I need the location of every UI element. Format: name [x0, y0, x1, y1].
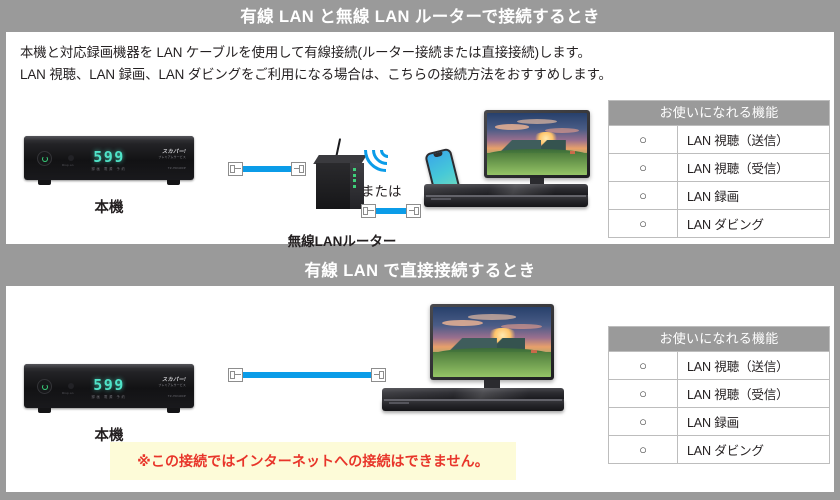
- set-top-box-2: Disp.on 599 録画 電源 予約 スカパー! プレミアムサービス TZ-…: [24, 364, 194, 418]
- feature-table-2-header: お使いになれる機能: [609, 327, 829, 351]
- table-row: ○ LAN 視聴（受信）: [609, 153, 829, 181]
- recorder-top: [424, 184, 588, 195]
- feature-table-1-header: お使いになれる機能: [609, 101, 829, 125]
- rj45-plug-left: [228, 368, 243, 382]
- warning-banner: ※この接続ではインターネットへの接続はできません。: [110, 442, 516, 480]
- cable-wire: [241, 166, 293, 172]
- rj45-plug-right: [371, 368, 386, 382]
- stb-foot-left: [38, 180, 51, 185]
- stb-model-number: TZ-HR400P: [168, 394, 186, 398]
- feature-table-2: お使いになれる機能 ○ LAN 視聴（送信） ○ LAN 視聴（受信） ○ LA…: [608, 326, 830, 464]
- tv-bezel: [430, 304, 554, 380]
- stb-brand-name: スカパー!: [158, 376, 186, 383]
- recorder-logo: [431, 198, 451, 200]
- feature-label: LAN 視聴（受信）: [678, 380, 829, 407]
- table-row: ○ LAN 録画: [609, 407, 829, 435]
- cable-wire: [241, 372, 373, 378]
- stb-foot-right: [167, 408, 180, 413]
- feature-label: LAN ダビング: [678, 210, 829, 237]
- table-row: ○ LAN 視聴（送信）: [609, 351, 829, 379]
- feature-mark: ○: [609, 182, 678, 209]
- rj45-plug-right: [406, 204, 421, 218]
- router-led-indicators: [353, 168, 356, 190]
- stb-top-edge: [24, 364, 194, 369]
- feature-label: LAN 視聴（送信）: [678, 126, 829, 153]
- recorder-logo: [389, 402, 409, 404]
- stb-body: Disp.on 599 録画 電源 予約 スカパー! プレミアムサービス TZ-…: [24, 136, 194, 180]
- recorder-gloss: [382, 388, 564, 399]
- feature-label: LAN 視聴（受信）: [678, 154, 829, 181]
- lan-cable-direct: [228, 368, 386, 382]
- cable-wire: [374, 208, 408, 214]
- smartphone-notch: [433, 152, 443, 158]
- set-top-box-1-caption: 本機: [24, 196, 194, 217]
- tv-cloud-1: [495, 124, 529, 130]
- section-1-header: 有線 LAN と無線 LAN ルーターで接続するとき: [0, 0, 840, 30]
- feature-label: LAN 録画: [678, 408, 829, 435]
- tv-cloud-2: [517, 119, 557, 124]
- tv-house: [531, 350, 537, 354]
- set-top-box-1: Disp.on 599 録画 電源 予約 スカパー! プレミアムサービス TZ-…: [24, 136, 194, 190]
- router-front: [316, 163, 350, 209]
- stb-brand-sub: プレミアムサービス: [158, 155, 186, 159]
- feature-label: LAN 録画: [678, 182, 829, 209]
- stb-brand: スカパー! プレミアムサービス: [158, 148, 186, 159]
- feature-label: LAN 視聴（送信）: [678, 352, 829, 379]
- stb-foot-right: [167, 180, 180, 185]
- stb-model-number: TZ-HR400P: [168, 166, 186, 170]
- warning-text: ※この接続ではインターネットへの接続はできません。: [137, 451, 489, 471]
- lan-cable-router-to-recorder: [361, 204, 421, 218]
- stb-brand: スカパー! プレミアムサービス: [158, 376, 186, 387]
- tv-screen: [487, 113, 587, 175]
- section-2-header-text: 有線 LAN で直接接続するとき: [305, 257, 536, 281]
- table-row: ○ LAN ダビング: [609, 209, 829, 237]
- tv-field: [487, 153, 587, 175]
- rj45-plug-right: [291, 162, 306, 176]
- feature-mark: ○: [609, 436, 678, 463]
- wireless-router-caption: 無線LANルーター: [246, 230, 438, 250]
- recorder-front: [424, 195, 588, 207]
- recorder-lip: [384, 399, 562, 401]
- feature-mark: ○: [609, 352, 678, 379]
- table-row: ○ LAN 視聴（受信）: [609, 379, 829, 407]
- feature-label: LAN ダビング: [678, 436, 829, 463]
- tv-cloud-2: [468, 314, 515, 320]
- recorder-gloss: [424, 184, 588, 195]
- wifi-signal-icon: [354, 124, 400, 170]
- bd-recorder-1: [424, 184, 588, 207]
- feature-mark: ○: [609, 408, 678, 435]
- tv-house: [570, 151, 575, 154]
- feature-table-1: お使いになれる機能 ○ LAN 視聴（送信） ○ LAN 視聴（受信） ○ LA…: [608, 100, 830, 238]
- rj45-plug-left: [228, 162, 243, 176]
- table-row: ○ LAN 視聴（送信）: [609, 125, 829, 153]
- intro-line-1: 本機と対応録画機器を LAN ケーブルを使用して有線接続(ルーター接続または直接…: [20, 42, 660, 64]
- stb-brand-sub: プレミアムサービス: [158, 383, 186, 387]
- stb-brand-name: スカパー!: [158, 148, 186, 155]
- rj45-plug-left: [361, 204, 376, 218]
- tv-cloud-1: [442, 320, 482, 326]
- table-row: ○ LAN 録画: [609, 181, 829, 209]
- table-row: ○ LAN ダビング: [609, 435, 829, 463]
- bd-recorder-2: [382, 388, 564, 414]
- stb-top-edge: [24, 136, 194, 141]
- section-2-header: 有線 LAN で直接接続するとき: [0, 254, 840, 284]
- lan-cable-stb-to-router: [228, 162, 306, 176]
- stb-body: Disp.on 599 録画 電源 予約 スカパー! プレミアムサービス TZ-…: [24, 364, 194, 408]
- stb-foot-left: [38, 408, 51, 413]
- tv-screen: [433, 307, 551, 377]
- section-1-header-text: 有線 LAN と無線 LAN ルーターで接続するとき: [240, 3, 600, 27]
- recorder-lip: [426, 195, 586, 197]
- recorder-front: [382, 399, 564, 411]
- section-1-intro: 本機と対応録画機器を LAN ケーブルを使用して有線接続(ルーター接続または直接…: [20, 42, 660, 85]
- recorder-top: [382, 388, 564, 399]
- connection-diagram-page: 有線 LAN と無線 LAN ルーターで接続するとき 本機と対応録画機器を LA…: [0, 0, 840, 500]
- tv-bezel: [484, 110, 590, 178]
- tv-field: [433, 352, 551, 377]
- intro-line-2: LAN 視聴、LAN 録画、LAN ダビングをご利用になる場合は、こちらの接続方…: [20, 64, 660, 86]
- feature-mark: ○: [609, 210, 678, 237]
- feature-mark: ○: [609, 380, 678, 407]
- feature-mark: ○: [609, 154, 678, 181]
- or-label: または: [361, 180, 402, 200]
- feature-mark: ○: [609, 126, 678, 153]
